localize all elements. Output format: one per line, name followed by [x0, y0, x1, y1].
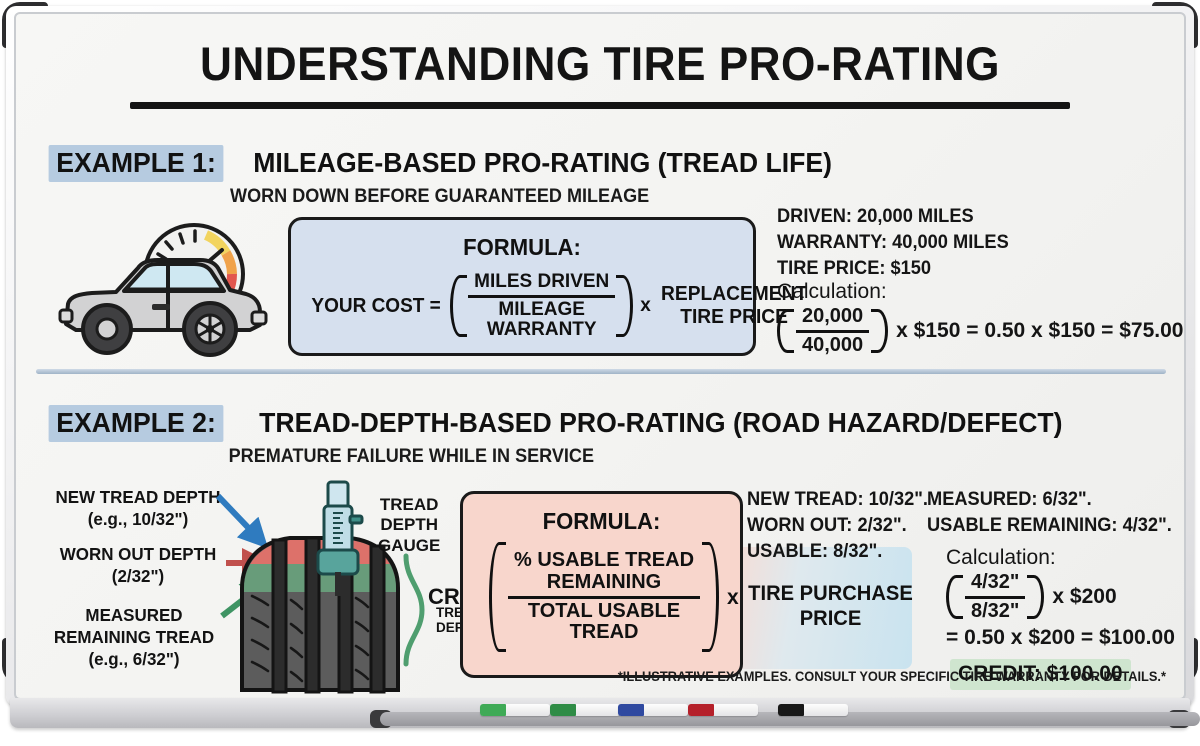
example1-heading: MILEAGE-BASED PRO-RATING (TREAD LIFE) — [253, 147, 832, 179]
marker-tray — [10, 698, 1190, 728]
tread-depth-gauge-icon — [310, 480, 370, 590]
example2-given-worn-out: WORN OUT: 2/32". — [747, 513, 928, 539]
example1-formula-lhs: YOUR COST = — [311, 295, 440, 318]
example1-tag: EXAMPLE 1: — [49, 145, 224, 182]
fraction-bar — [508, 596, 700, 599]
example2-formula-multiplier: TIRE PURCHASE PRICE — [747, 582, 915, 632]
whiteboard-surface: UNDERSTANDING TIRE PRO-RATING EXAMPLE 1:… — [16, 14, 1184, 698]
example1-calc-numerator: 20,000 — [796, 306, 869, 328]
example2-calc-denominator: 8/32" — [965, 601, 1025, 623]
example2-tag: EXAMPLE 2: — [49, 405, 224, 442]
example1-given-price: TIRE PRICE: $150 — [777, 256, 1009, 282]
example2-given-measured: MEASURED: 6/32". — [927, 487, 1172, 513]
example2-multiplier-line1: TIRE PURCHASE — [747, 582, 915, 607]
example1-formula-operator: x — [640, 295, 651, 317]
paren-left-icon — [946, 575, 963, 619]
paren-right-icon — [1027, 575, 1044, 619]
example1-fraction: MILES DRIVEN MILEAGE WARRANTY — [468, 272, 615, 341]
example2-calculation-equation: 4/32" 8/32" x $200 — [946, 572, 1117, 622]
example2-calculation-label: Calculation: — [946, 546, 1056, 570]
label-worn-out-depth: WORN OUT DEPTH (2/32") — [41, 544, 235, 588]
example2-fraction: % USABLE TREAD REMAINING TOTAL USABLE TR… — [508, 550, 700, 643]
fraction-bar — [468, 295, 615, 298]
marker-red[interactable] — [688, 704, 758, 716]
example2-given-usable: USABLE: 8/32". — [747, 539, 928, 565]
label-new-tread-depth-line2: (e.g., 10/32") — [41, 509, 235, 531]
example1-formula-equation: YOUR COST = MILES DRIVEN MILEAGE WARRANT… — [308, 272, 810, 341]
paren-right-icon — [871, 309, 888, 353]
example2-header: EXAMPLE 2: TREAD-DEPTH-BASED PRO-RATING … — [44, 405, 1084, 442]
gauge-label: TREAD DEPTH GAUGE — [378, 495, 440, 556]
example2-numerator-line1: % USABLE TREAD — [508, 550, 700, 572]
example1-given-warranty: WARRANTY: 40,000 MILES — [777, 230, 1009, 256]
label-measured-line1: MEASURED — [31, 605, 237, 627]
example2-calc-numerator: 4/32" — [965, 572, 1025, 594]
paren-right-icon — [702, 542, 719, 652]
example1-fraction-denominator-2: WARRANTY — [481, 320, 603, 341]
label-new-tread-depth-line1: NEW TREAD DEPTH — [41, 487, 235, 509]
marker-blue[interactable] — [618, 704, 688, 716]
fraction-bar — [965, 596, 1025, 599]
label-measured-line3: (e.g., 6/32") — [31, 649, 237, 671]
page-title: UNDERSTANDING TIRE PRO-RATING — [51, 36, 1149, 91]
example2-givens-right: MEASURED: 6/32". USABLE REMAINING: 4/32"… — [927, 487, 1182, 539]
example2-given-usable-remaining: USABLE REMAINING: 4/32". — [927, 513, 1172, 539]
disclaimer-note: *ILLUSTRATIVE EXAMPLES. CONSULT YOUR SPE… — [74, 669, 1167, 684]
example1-header: EXAMPLE 1: MILEAGE-BASED PRO-RATING (TRE… — [44, 145, 847, 182]
example2-multiplier-line2: PRICE — [747, 607, 915, 632]
paren-left-icon — [489, 542, 506, 652]
example1-formula-label: FORMULA: — [300, 234, 744, 261]
label-new-tread-depth: NEW TREAD DEPTH (e.g., 10/32") — [41, 487, 235, 531]
example2-heading: TREAD-DEPTH-BASED PRO-RATING (ROAD HAZAR… — [259, 407, 1062, 439]
marker-green-1[interactable] — [480, 704, 550, 716]
whiteboard-frame: UNDERSTANDING TIRE PRO-RATING EXAMPLE 1:… — [0, 0, 1200, 746]
infographic-content: UNDERSTANDING TIRE PRO-RATING EXAMPLE 1:… — [16, 14, 1184, 698]
paren-left-icon — [777, 309, 794, 353]
example2-calc-result: = 0.50 x $200 = $100.00 — [946, 626, 1175, 650]
label-measured-line2: REMAINING TREAD — [31, 627, 237, 649]
example2-numerator-line2: REMAINING — [541, 572, 667, 594]
label-worn-out-depth-line2: (2/32") — [41, 566, 235, 588]
paren-right-icon — [616, 275, 633, 337]
example2-denominator-line2: TREAD — [564, 622, 645, 644]
example2-formula-label: FORMULA: — [469, 508, 735, 535]
example1-calc-denominator: 40,000 — [796, 335, 869, 357]
marker-cap-green-1 — [480, 704, 506, 716]
example1-fraction-denominator-1: MILEAGE — [492, 300, 591, 321]
example1-calc-tail: x $150 = 0.50 x $150 = $75.00 — [896, 319, 1183, 343]
example2-subheading: PREMATURE FAILURE WHILE IN SERVICE — [229, 446, 594, 468]
title-underline — [130, 102, 1070, 109]
marker-cap-green-2 — [550, 704, 576, 716]
example2-calc-fraction: 4/32" 8/32" — [965, 572, 1025, 622]
example1-calc-fraction: 20,000 40,000 — [796, 306, 869, 356]
example1-fraction-numerator: MILES DRIVEN — [468, 272, 615, 293]
example2-formula-operator: x — [727, 586, 739, 610]
marker-cap-black — [778, 704, 804, 716]
marker-green-2[interactable] — [550, 704, 620, 716]
example1-given-driven: DRIVEN: 20,000 MILES — [777, 204, 1009, 230]
example1-calculation-label: Calculation: — [777, 280, 887, 304]
example2-given-new-tread: NEW TREAD: 10/32". — [747, 487, 928, 513]
marker-cap-blue — [618, 704, 644, 716]
label-measured-remaining-tread: MEASURED REMAINING TREAD (e.g., 6/32") — [31, 605, 237, 671]
section-divider — [36, 369, 1166, 374]
tread-depth-brace-icon — [402, 554, 428, 666]
marker-cap-red — [688, 704, 714, 716]
car-with-speedometer-icon — [54, 212, 274, 362]
example2-denominator-line1: TOTAL USABLE — [522, 601, 686, 623]
gauge-label-line2: DEPTH — [378, 515, 440, 535]
paren-left-icon — [450, 275, 467, 337]
fraction-bar — [796, 330, 869, 333]
example2-formula-equation: % USABLE TREAD REMAINING TOTAL USABLE TR… — [489, 542, 719, 652]
example1-givens: DRIVEN: 20,000 MILES WARRANTY: 40,000 MI… — [777, 204, 1018, 281]
marker-black[interactable] — [778, 704, 848, 716]
example2-givens-left: NEW TREAD: 10/32". WORN OUT: 2/32". USAB… — [747, 487, 936, 564]
gauge-label-line1: TREAD — [378, 495, 440, 515]
example2-calc-tail: x $200 — [1052, 585, 1116, 609]
label-worn-out-depth-line1: WORN OUT DEPTH — [41, 544, 235, 566]
example1-subheading: WORN DOWN BEFORE GUARANTEED MILEAGE — [230, 186, 649, 208]
example1-calculation-equation: 20,000 40,000 x $150 = 0.50 x $150 = $75… — [777, 306, 1183, 356]
